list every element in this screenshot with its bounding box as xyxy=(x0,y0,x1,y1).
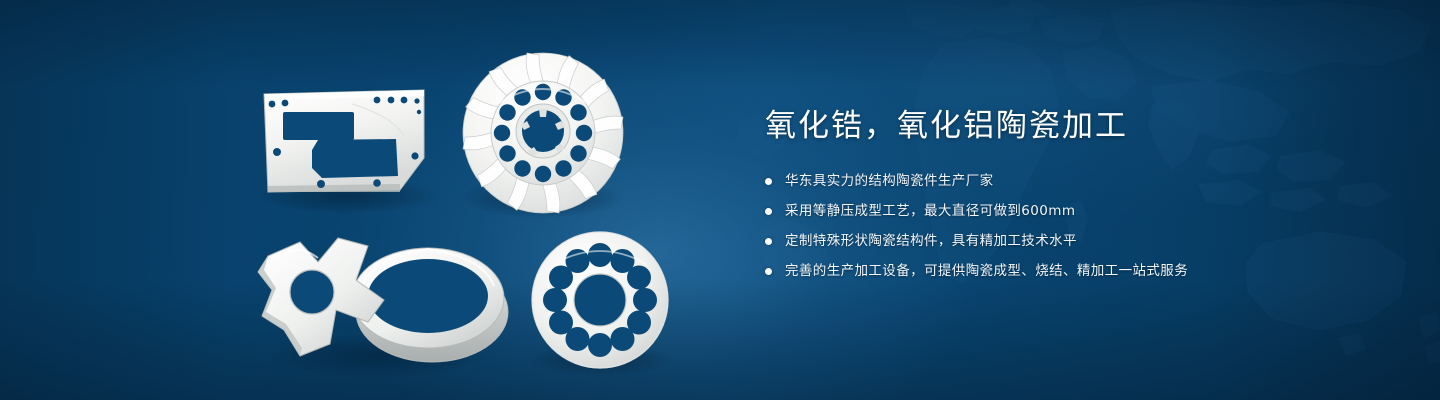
bullet-dot-icon xyxy=(765,178,772,185)
ceramic-impeller-rotor xyxy=(463,53,623,213)
list-item: 完善的生产加工设备，可提供陶瓷成型、烧结、精加工一站式服务 xyxy=(765,260,1405,282)
bullet-dot-icon xyxy=(765,208,772,215)
list-item-label: 采用等静压成型工艺，最大直径可做到600mm xyxy=(785,200,1075,222)
ceramic-machined-plate xyxy=(264,90,424,192)
ceramic-perforated-disc xyxy=(532,232,668,368)
bullet-dot-icon xyxy=(765,238,772,245)
list-item: 华东具实力的结构陶瓷件生产厂家 xyxy=(765,170,1405,192)
list-item-label: 完善的生产加工设备，可提供陶瓷成型、烧结、精加工一站式服务 xyxy=(785,260,1188,282)
page-title: 氧化锆，氧化铝陶瓷加工 xyxy=(765,104,1405,148)
ceramic-products-image xyxy=(0,0,740,400)
hero-banner: 氧化锆，氧化铝陶瓷加工 华东具实力的结构陶瓷件生产厂家 采用等静压成型工艺，最大… xyxy=(0,0,1440,400)
list-item: 定制特殊形状陶瓷结构件，具有精加工技术水平 xyxy=(765,230,1405,252)
banner-copy: 氧化锆，氧化铝陶瓷加工 华东具实力的结构陶瓷件生产厂家 采用等静压成型工艺，最大… xyxy=(765,104,1405,290)
bullet-dot-icon xyxy=(765,268,772,275)
list-item-label: 华东具实力的结构陶瓷件生产厂家 xyxy=(785,170,994,192)
list-item-label: 定制特殊形状陶瓷结构件，具有精加工技术水平 xyxy=(785,230,1077,252)
list-item: 采用等静压成型工艺，最大直径可做到600mm xyxy=(765,200,1405,222)
feature-list: 华东具实力的结构陶瓷件生产厂家 采用等静压成型工艺，最大直径可做到600mm 定… xyxy=(765,170,1405,282)
